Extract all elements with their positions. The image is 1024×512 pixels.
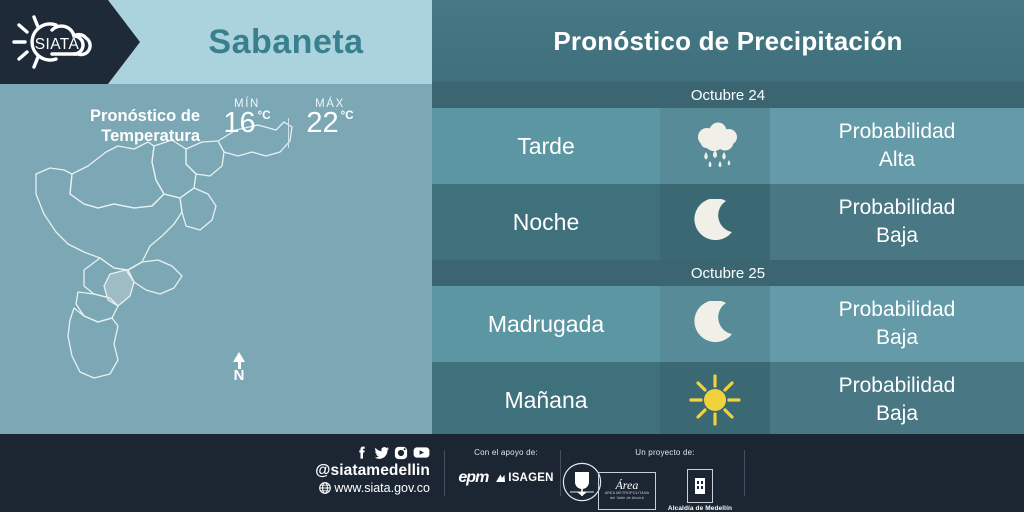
precipitation-title: Pronóstico de Precipitación — [432, 0, 1024, 82]
max-value-row: 22 °C — [306, 108, 353, 138]
probability-line1: Probabilidad — [839, 196, 956, 219]
probability-line2: Baja — [876, 402, 918, 425]
probability-line1: Probabilidad — [839, 120, 956, 143]
footer-divider — [444, 450, 445, 496]
isagen-logo: ISAGEN — [495, 472, 553, 484]
social-handle[interactable]: @siatamedellin — [312, 462, 430, 480]
website-row[interactable]: www.siata.gov.co — [312, 480, 430, 496]
moon-icon — [660, 184, 770, 260]
instagram-icon[interactable] — [394, 446, 408, 460]
temperature-title: Pronóstico de Temperatura — [60, 98, 200, 146]
left-panel: Sabaneta SIATA Pr — [0, 0, 432, 434]
probability-line1: Probabilidad — [839, 374, 956, 397]
globe-icon — [319, 482, 331, 494]
youtube-icon[interactable] — [413, 446, 430, 459]
social-icons — [312, 446, 430, 460]
forecast-row: Noche ProbabilidadBaja — [432, 184, 1024, 260]
temperature-max: MÁX 22 °C — [295, 98, 365, 138]
project-logos: Área AREA METROPOLITANA del Valle de Abu… — [590, 469, 740, 512]
alcaldia-mark-icon — [687, 469, 713, 503]
probability-label: ProbabilidadBaja — [770, 184, 1024, 260]
support-caption: Con el apoyo de: — [456, 448, 556, 457]
north-arrow-head — [233, 352, 245, 362]
svg-text:SIATA: SIATA — [35, 36, 80, 53]
period-label: Tarde — [432, 108, 660, 184]
period-label: Madrugada — [432, 286, 660, 362]
probability-line2: Baja — [876, 224, 918, 247]
forecast-row: Tarde — [432, 108, 1024, 184]
project-block: Un proyecto de: Área AREA METROPOLITANA … — [590, 448, 740, 512]
footer-divider — [560, 450, 561, 496]
area-metropolitana-logo: Área AREA METROPOLITANA del Valle de Abu… — [598, 472, 656, 510]
max-unit: °C — [341, 110, 354, 122]
probability-label: ProbabilidadBaja — [770, 362, 1024, 438]
precipitation-panel: Pronóstico de Precipitación Octubre 24 T… — [432, 0, 1024, 434]
probability-label: ProbabilidadAlta — [770, 108, 1024, 184]
probability-label: ProbabilidadBaja — [770, 286, 1024, 362]
infographic-root: Sabaneta SIATA Pr — [0, 0, 1024, 512]
sun-icon — [660, 362, 770, 438]
website-url: www.siata.gov.co — [334, 480, 430, 496]
temperature-values: MÍN 16 °C MÁX 22 °C — [212, 98, 365, 148]
facebook-icon[interactable] — [356, 446, 369, 460]
temperature-divider — [288, 118, 289, 148]
period-label: Noche — [432, 184, 660, 260]
north-arrow: N — [228, 352, 250, 383]
alcaldia-logo: Alcaldía de Medellín — [668, 469, 732, 512]
project-caption: Un proyecto de: — [590, 448, 740, 457]
social-block: @siatamedellin www.siata.gov.co — [312, 446, 430, 496]
forecast-row: Mañana Probabili — [432, 362, 1024, 438]
city-title: Sabaneta — [140, 0, 432, 84]
amva-script-name: Área — [615, 480, 638, 491]
max-value: 22 — [306, 108, 338, 138]
probability-line2: Alta — [879, 148, 915, 171]
isagen-mark-icon — [495, 473, 506, 484]
temperature-min: MÍN 16 °C — [212, 98, 282, 138]
forecast-row: Madrugada ProbabilidadBaja — [432, 286, 1024, 362]
north-letter: N — [228, 368, 250, 383]
min-value: 16 — [223, 108, 255, 138]
min-unit: °C — [258, 110, 271, 122]
probability-line2: Baja — [876, 326, 918, 349]
rain-cloud-icon — [660, 108, 770, 184]
footer: @siatamedellin www.siata.gov.co Con el a… — [0, 434, 1024, 512]
support-block: Con el apoyo de: epm ISAGEN — [456, 448, 556, 487]
date-header-2: Octubre 25 — [432, 260, 1024, 286]
footer-divider — [744, 450, 745, 496]
period-label: Mañana — [432, 362, 660, 438]
moon-icon — [660, 286, 770, 362]
amva-subtitle-2: del Valle de Aburrá — [610, 496, 644, 501]
temperature-forecast: Pronóstico de Temperatura MÍN 16 °C MÁX … — [60, 98, 380, 160]
date-header-1: Octubre 24 — [432, 82, 1024, 108]
twitter-icon[interactable] — [374, 446, 389, 460]
probability-line1: Probabilidad — [839, 298, 956, 321]
min-value-row: 16 °C — [223, 108, 270, 138]
temperature-title-line1: Pronóstico de — [60, 106, 200, 126]
temperature-title-line2: Temperatura — [60, 126, 200, 146]
alcaldia-label: Alcaldía de Medellín — [668, 505, 732, 512]
epm-logo: epm — [458, 469, 488, 487]
sun-cloud-icon: SIATA — [8, 8, 108, 76]
support-logos: epm ISAGEN — [456, 469, 556, 487]
